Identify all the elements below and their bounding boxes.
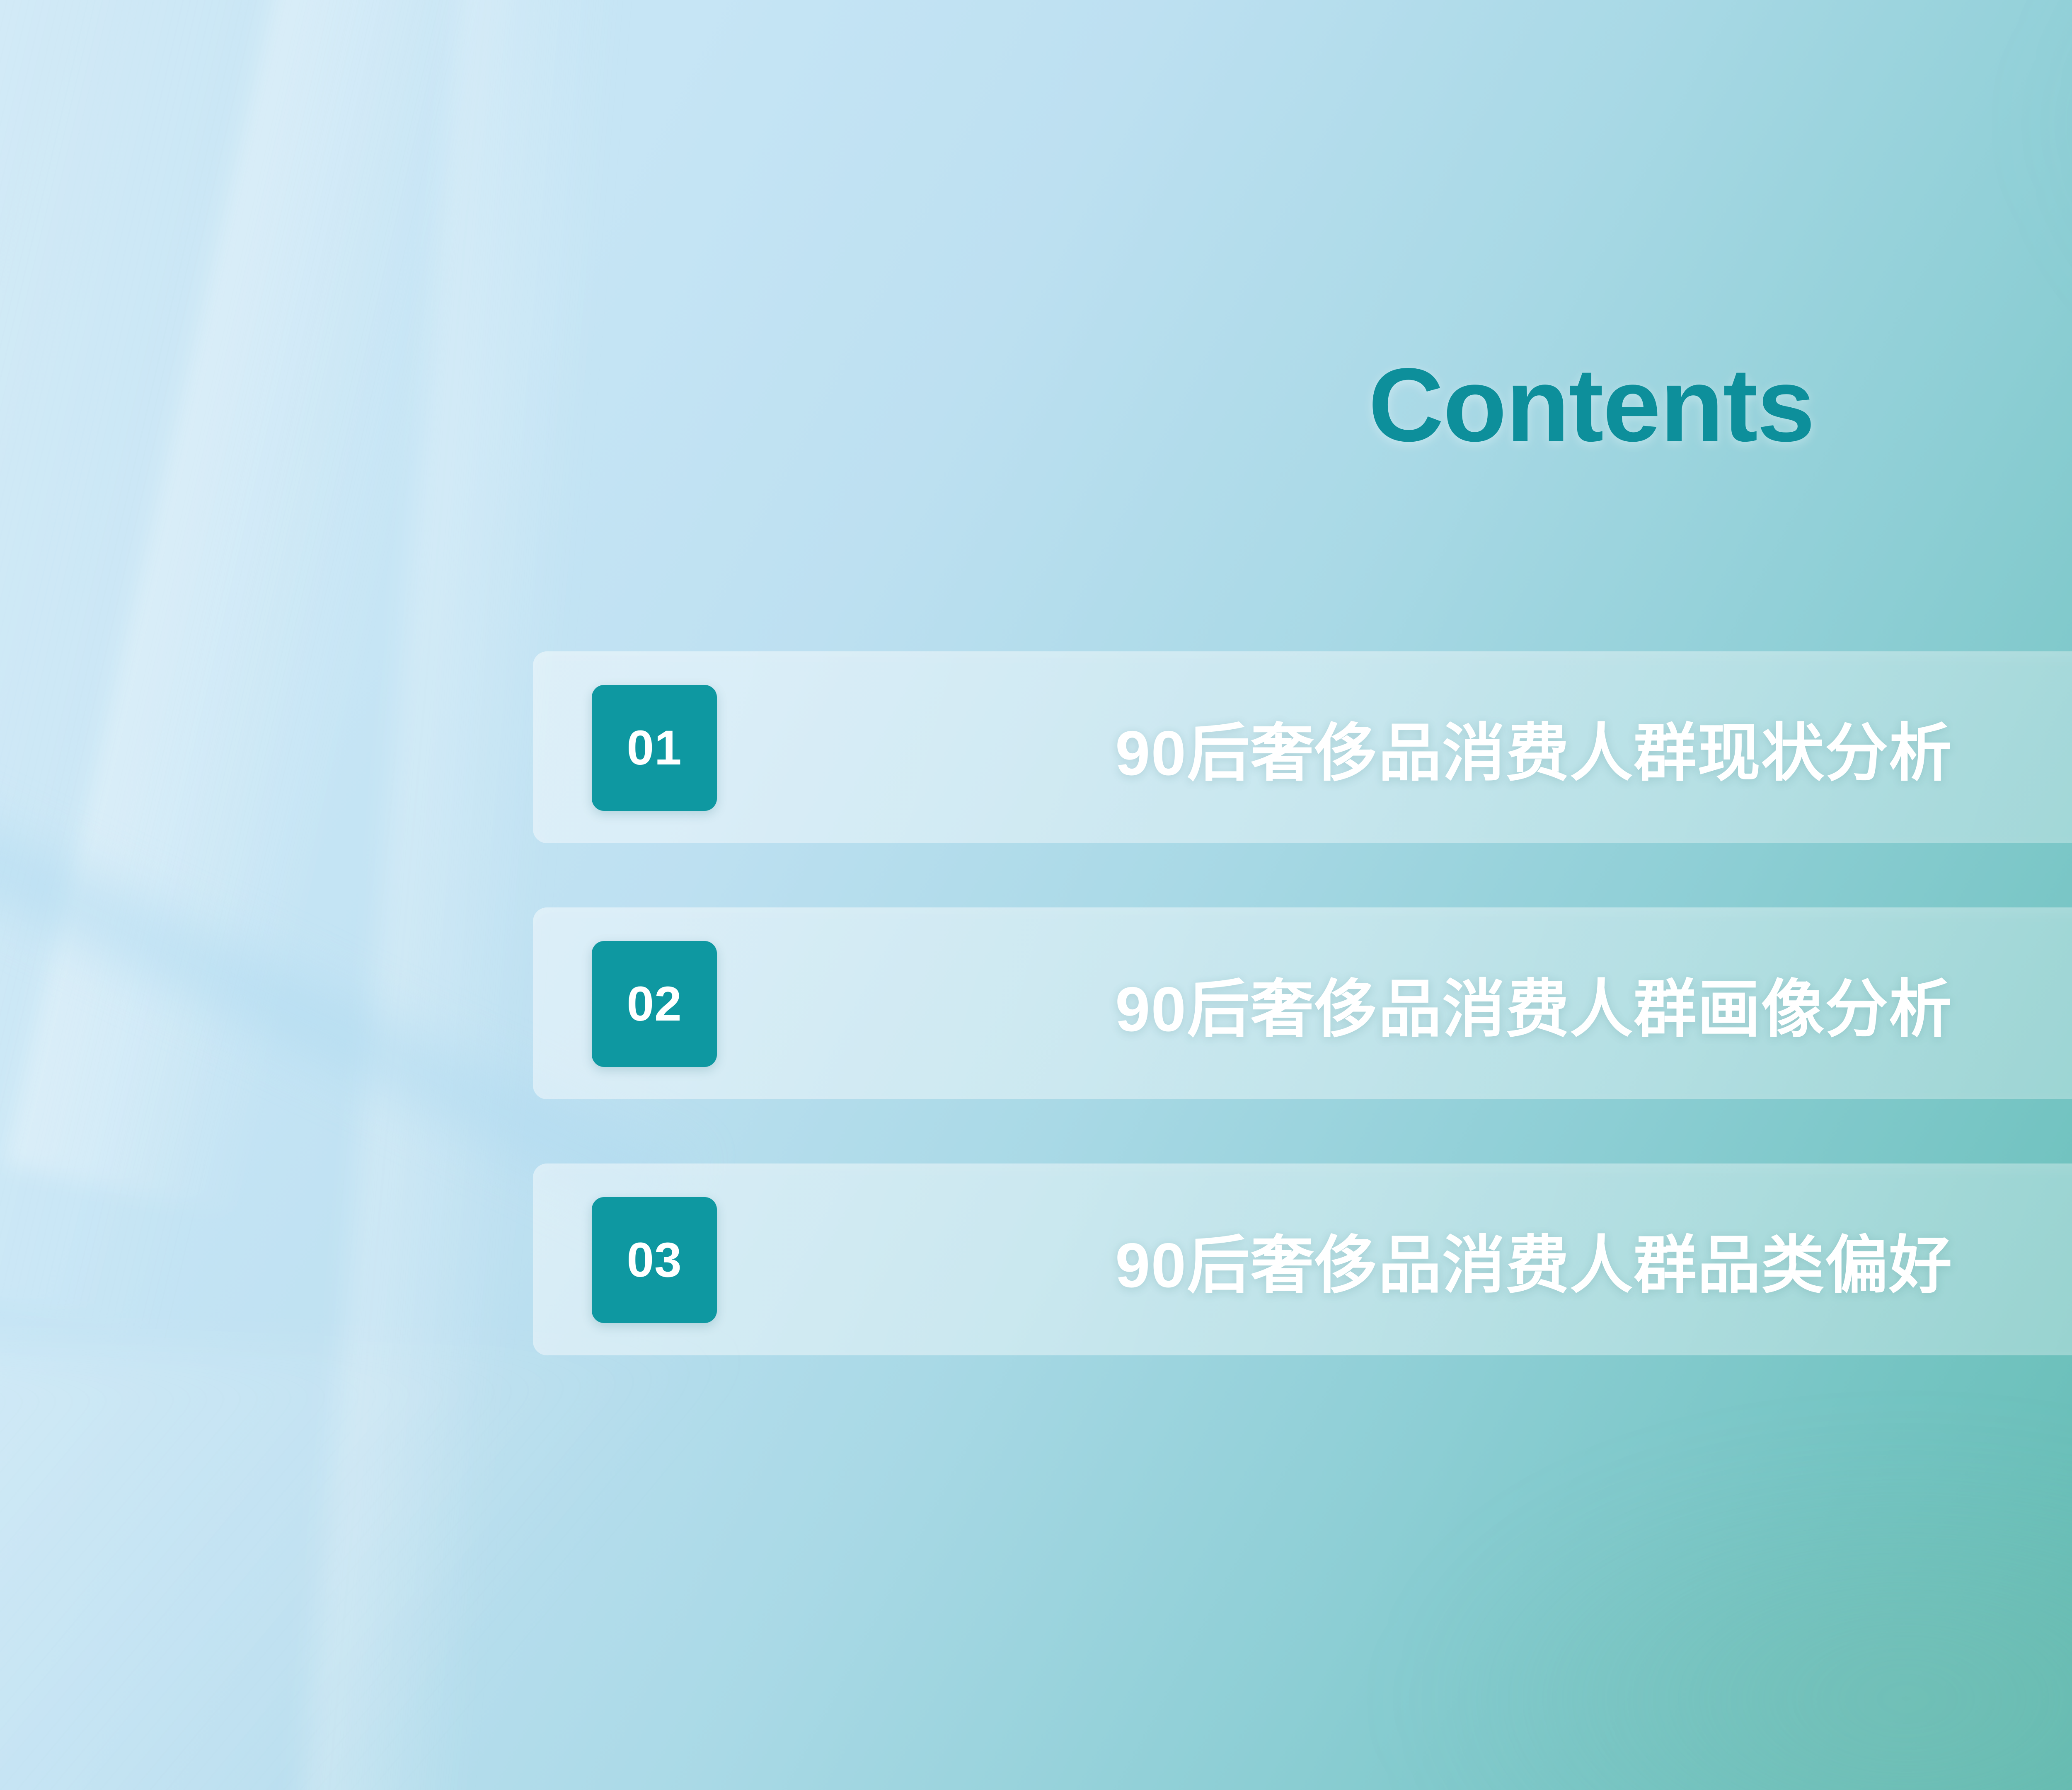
contents-number-badge: 02 <box>592 941 717 1067</box>
contents-item-03[interactable]: 03 90后奢侈品消费人群品类偏好 <box>533 1163 2072 1355</box>
contents-item-label: 90后奢侈品消费人群品类偏好 <box>1115 1214 1953 1305</box>
presentation-slide: Contents 01 90后奢侈品消费人群现状分析 02 90后奢侈品消费人群… <box>0 0 2072 1790</box>
light-streak-glow <box>0 1347 829 1790</box>
light-streak-1 <box>0 0 482 1338</box>
background-glow-bottom <box>1409 1450 2072 1790</box>
page-title: Contents <box>0 353 2072 457</box>
light-streak-2 <box>4 0 566 1216</box>
contents-item-01[interactable]: 01 90后奢侈品消费人群现状分析 <box>533 651 2072 843</box>
contents-item-02[interactable]: 02 90后奢侈品消费人群画像分析 <box>533 907 2072 1099</box>
contents-item-label: 90后奢侈品消费人群画像分析 <box>1115 958 1953 1049</box>
contents-list: 01 90后奢侈品消费人群现状分析 02 90后奢侈品消费人群画像分析 03 9… <box>533 651 2072 1355</box>
contents-number-badge: 01 <box>592 685 717 811</box>
contents-item-label: 90后奢侈品消费人群现状分析 <box>1115 702 1953 793</box>
contents-number-badge: 03 <box>592 1197 717 1323</box>
